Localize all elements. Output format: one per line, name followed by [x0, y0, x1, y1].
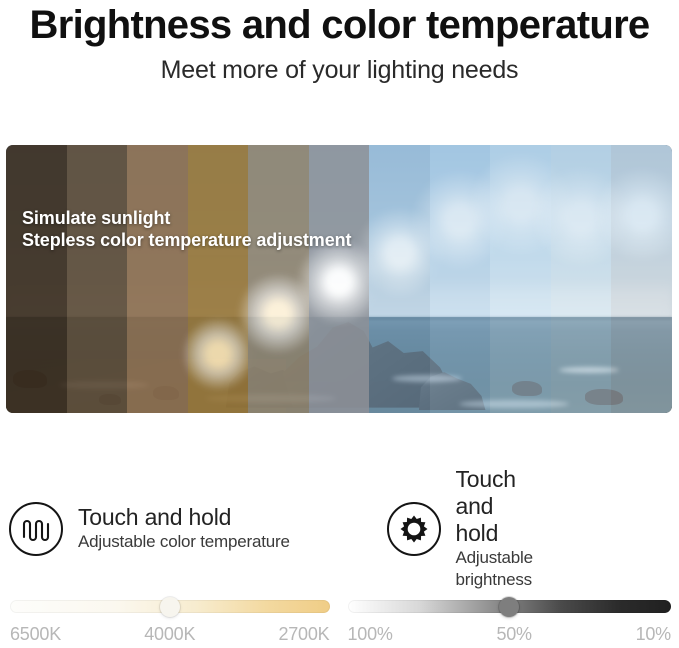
ct-label-max: 2700K [278, 624, 329, 645]
strip-3500k [127, 145, 188, 413]
strip-5500k [369, 145, 430, 413]
page-header: Brightness and color temperature Meet mo… [0, 0, 679, 85]
color-temperature-slider-labels: 6500K 4000K 2700K [10, 613, 330, 645]
banner-overlay-text: Simulate sunlight Stepless color tempera… [22, 207, 351, 251]
color-temperature-slider[interactable] [10, 600, 330, 613]
hero-banner: Simulate sunlight Stepless color tempera… [6, 145, 672, 413]
feature-subtitle: Adjustable brightness [456, 547, 533, 591]
strip-6500k-end [611, 145, 672, 413]
ct-label-mid: 4000K [144, 624, 195, 645]
ct-label-min: 6500K [10, 624, 61, 645]
br-label-min: 100% [348, 624, 393, 645]
feature-brightness: Touch and hold Adjustable brightness [1, 466, 387, 591]
strip-6500k [551, 145, 612, 413]
brightness-slider[interactable] [348, 600, 672, 613]
br-label-max: 10% [636, 624, 671, 645]
feature-row: Touch and hold Adjustable color temperat… [0, 466, 679, 591]
light-orb [237, 272, 321, 356]
strip-5000k [309, 145, 370, 413]
br-label-mid: 50% [496, 624, 531, 645]
strip-4000k [188, 145, 249, 413]
slider-row: 6500K 4000K 2700K 100% 50% 10% [0, 600, 679, 645]
page-subtitle: Meet more of your lighting needs [0, 48, 679, 85]
feature-title: Touch and hold [456, 466, 533, 547]
page-title: Brightness and color temperature [0, 0, 679, 48]
banner-overlay-line-1: Simulate sunlight [22, 207, 351, 229]
color-temperature-slider-thumb[interactable] [160, 597, 180, 617]
strip-2700k [6, 145, 67, 413]
strip-3000k [67, 145, 128, 413]
strip-4500k [248, 145, 309, 413]
color-temperature-strips [6, 145, 672, 413]
color-temperature-slider-group: 6500K 4000K 2700K [0, 600, 340, 645]
strip-6200k [490, 145, 551, 413]
strip-6000k [430, 145, 491, 413]
brightness-slider-thumb[interactable] [499, 597, 519, 617]
banner-overlay-line-2: Stepless color temperature adjustment [22, 229, 351, 251]
brightness-slider-labels: 100% 50% 10% [348, 613, 672, 645]
brightness-slider-group: 100% 50% 10% [340, 600, 679, 645]
light-orb [181, 317, 256, 392]
feature-text: Touch and hold Adjustable brightness [441, 466, 533, 591]
sun-brightness-icon [387, 502, 441, 556]
